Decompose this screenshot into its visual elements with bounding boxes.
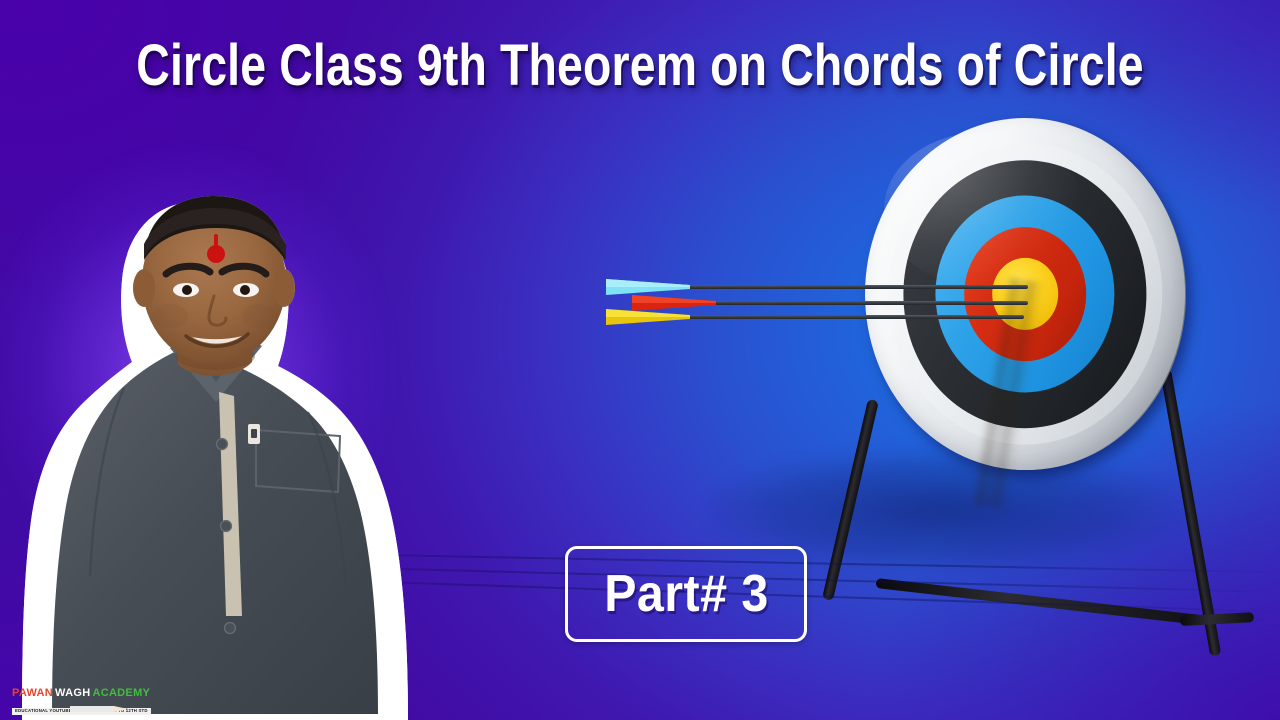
part-number-label: Part# 3 bbox=[604, 564, 769, 624]
channel-logo: PAWAN WAGH ACADEMY EDUCATIONAL YOUTUBE C… bbox=[12, 688, 140, 714]
arrow-yellow-fletching bbox=[606, 306, 694, 328]
presenter-cutout bbox=[20, 196, 410, 720]
stand-base-bar bbox=[875, 578, 1204, 625]
thumbnail-canvas: Circle Class 9th Theorem on Chords of Ci… bbox=[0, 0, 1280, 720]
channel-logo-wordmark: PAWAN WAGH ACADEMY bbox=[12, 688, 140, 699]
logo-word-wagh: WAGH bbox=[55, 688, 90, 699]
arrow-group bbox=[596, 270, 1026, 340]
presenter-outline bbox=[20, 196, 410, 720]
part-number-badge[interactable]: Part# 3 bbox=[565, 546, 807, 642]
logo-word-academy: ACADEMY bbox=[92, 688, 150, 699]
page-title: Circle Class 9th Theorem on Chords of Ci… bbox=[128, 36, 1152, 97]
logo-word-pawan: PAWAN bbox=[12, 688, 53, 699]
pencil-icon bbox=[70, 702, 132, 714]
